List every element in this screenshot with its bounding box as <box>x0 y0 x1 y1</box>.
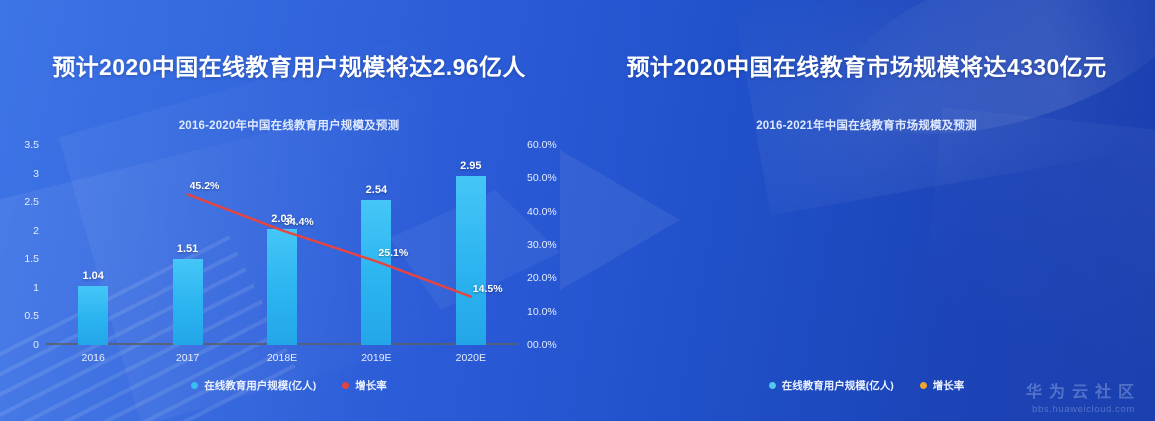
growth-rate-label: 25.1% <box>378 247 408 259</box>
growth-rate-label: 34.4% <box>284 216 314 228</box>
y-axis-tick-left: 2 <box>33 225 46 237</box>
left-panel-subtitle: 2016-2020年中国在线教育用户规模及预测 <box>0 117 578 133</box>
left-chart-panel: 预计2020中国在线教育用户规模将达2.96亿人 2016-2020年中国在线教… <box>0 0 578 421</box>
left-chart-legend: 在线教育用户规模(亿人)增长率 <box>0 378 578 393</box>
legend-item: 增长率 <box>920 378 965 393</box>
legend-label: 增长率 <box>355 378 387 393</box>
y-axis-tick-left: 1 <box>33 282 46 294</box>
x-axis-tick-2017: 2017 <box>176 352 199 364</box>
y-axis-tick-left: 0.5 <box>24 310 46 322</box>
x-axis-tick-2020E: 2020E <box>456 352 486 364</box>
legend-marker-icon <box>191 382 198 389</box>
y-axis-tick-right-percent: 10.0% <box>518 306 557 318</box>
growth-rate-line <box>46 145 518 345</box>
growth-rate-label: 14.5% <box>473 283 503 295</box>
x-axis-tick-2018E: 2018E <box>267 352 297 364</box>
watermark-url: bbs.huaweicloud.com <box>1026 404 1141 415</box>
legend-item: 增长率 <box>342 378 387 393</box>
x-axis-tick-2019E: 2019E <box>361 352 391 364</box>
legend-marker-icon <box>769 382 776 389</box>
y-axis-tick-left: 3.5 <box>24 139 46 151</box>
infographic-canvas: 预计2020中国在线教育用户规模将达2.96亿人 2016-2020年中国在线教… <box>0 0 1155 421</box>
right-chart-panel: 预计2020中国在线教育市场规模将达4330亿元 2016-2021年中国在线教… <box>578 0 1155 421</box>
y-axis-tick-left: 2.5 <box>24 196 46 208</box>
legend-item: 在线教育用户规模(亿人) <box>769 378 894 393</box>
right-panel-title: 预计2020中国在线教育市场规模将达4330亿元 <box>578 48 1155 82</box>
y-axis-tick-left: 1.5 <box>24 253 46 265</box>
y-axis-tick-right-percent: 00.0% <box>518 339 557 351</box>
legend-marker-icon <box>342 382 349 389</box>
left-panel-title: 预计2020中国在线教育用户规模将达2.96亿人 <box>0 48 578 82</box>
legend-marker-icon <box>920 382 927 389</box>
legend-label: 在线教育用户规模(亿人) <box>782 378 894 393</box>
growth-rate-label: 45.2% <box>190 180 220 192</box>
y-axis-tick-right-percent: 40.0% <box>518 206 557 218</box>
y-axis-tick-right-percent: 60.0% <box>518 139 557 151</box>
y-axis-tick-right-percent: 50.0% <box>518 172 557 184</box>
y-axis-tick-right-percent: 30.0% <box>518 239 557 251</box>
y-axis-tick-right-percent: 20.0% <box>518 272 557 284</box>
x-axis-tick-2016: 2016 <box>82 352 105 364</box>
y-axis-tick-left: 3 <box>33 168 46 180</box>
left-plot-area: 00.511.522.533.500.0%10.0%20.0%30.0%40.0… <box>46 145 518 345</box>
watermark-brand: 华为云社区 <box>1026 378 1141 402</box>
watermark: 华为云社区 bbs.huaweicloud.com <box>1026 378 1141 415</box>
legend-label: 在线教育用户规模(亿人) <box>204 378 316 393</box>
y-axis-tick-left: 0 <box>33 339 46 351</box>
legend-label: 增长率 <box>933 378 965 393</box>
right-panel-subtitle: 2016-2021年中国在线教育市场规模及预测 <box>578 117 1155 133</box>
legend-item: 在线教育用户规模(亿人) <box>191 378 316 393</box>
